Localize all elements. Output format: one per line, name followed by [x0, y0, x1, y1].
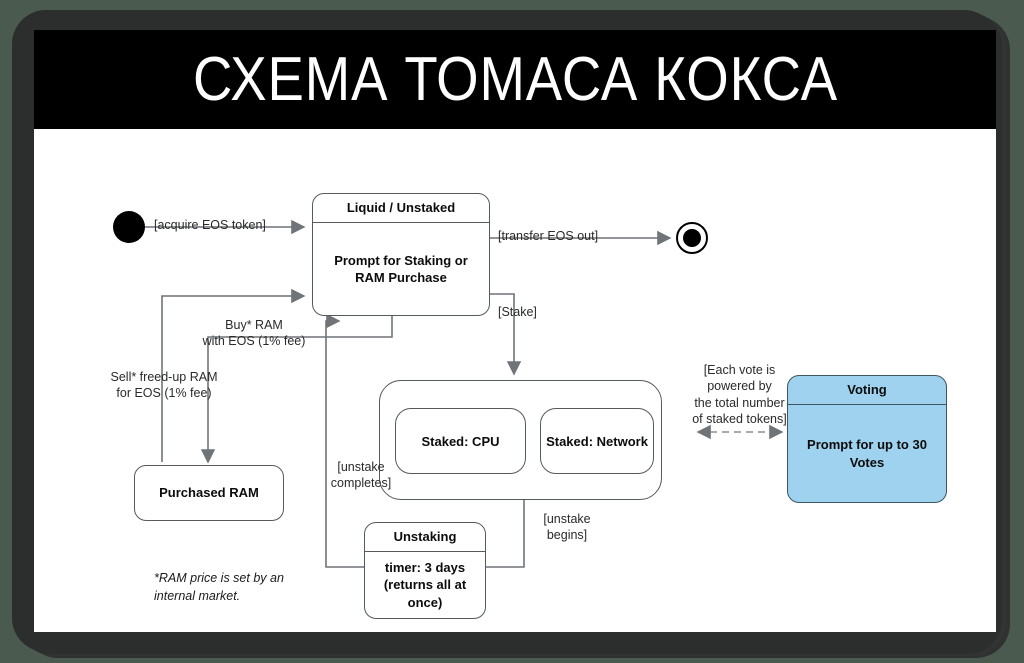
composite-state-staked[interactable]: Staked: CPU Staked: Network [379, 380, 662, 500]
state-liquid-unstaked-body: Prompt for Staking or RAM Purchase [313, 223, 489, 315]
state-purchased-ram[interactable]: Purchased RAM [134, 465, 284, 521]
state-voting[interactable]: Voting Prompt for up to 30 Votes [787, 375, 947, 503]
edge-label-stake: [Stake] [498, 304, 537, 320]
substate-staked-cpu[interactable]: Staked: CPU [395, 408, 526, 474]
state-purchased-ram-title: Purchased RAM [151, 466, 267, 520]
edge-label-sell-ram: Sell* freed-up RAM for EOS (1% fee) [94, 369, 234, 402]
state-liquid-unstaked-title: Liquid / Unstaked [313, 194, 489, 223]
slide-canvas: СХЕМА ТОМАСА КОКСА [34, 30, 996, 632]
edge-label-buy-ram: Buy* RAM with EOS (1% fee) [194, 317, 314, 350]
state-voting-title: Voting [788, 376, 946, 405]
title-band: СХЕМА ТОМАСА КОКСА [34, 30, 996, 129]
start-node [113, 211, 145, 243]
end-node-inner [683, 229, 701, 247]
footnote-ram-price: *RAM price is set by an internal market. [154, 569, 374, 605]
edge-unstake-completes [326, 321, 364, 567]
end-node [676, 222, 708, 254]
edge-label-transfer-out: [transfer EOS out] [498, 228, 598, 244]
edge-label-acquire: [acquire EOS token] [154, 217, 266, 233]
state-liquid-unstaked[interactable]: Liquid / Unstaked Prompt for Staking or … [312, 193, 490, 316]
state-unstaking-body: timer: 3 days (returns all at once) [365, 552, 485, 618]
state-diagram: Liquid / Unstaked Prompt for Staking or … [34, 129, 996, 632]
page-title: СХЕМА ТОМАСА КОКСА [192, 49, 837, 111]
state-unstaking-title: Unstaking [365, 523, 485, 552]
substate-staked-network-label: Staked: Network [546, 434, 648, 449]
edge-label-unstake-completes: [unstake completes] [322, 459, 400, 492]
device-frame: СХЕМА ТОМАСА КОКСА [12, 10, 998, 652]
screenshot-root: СХЕМА ТОМАСА КОКСА [0, 0, 1024, 663]
edge-label-unstake-begins: [unstake begins] [530, 511, 604, 544]
substate-staked-cpu-label: Staked: CPU [421, 434, 499, 449]
substate-staked-network[interactable]: Staked: Network [540, 408, 654, 474]
state-voting-body: Prompt for up to 30 Votes [788, 405, 946, 502]
state-unstaking[interactable]: Unstaking timer: 3 days (returns all at … [364, 522, 486, 619]
edge-label-vote-power: [Each vote is powered by the total numbe… [682, 362, 797, 427]
